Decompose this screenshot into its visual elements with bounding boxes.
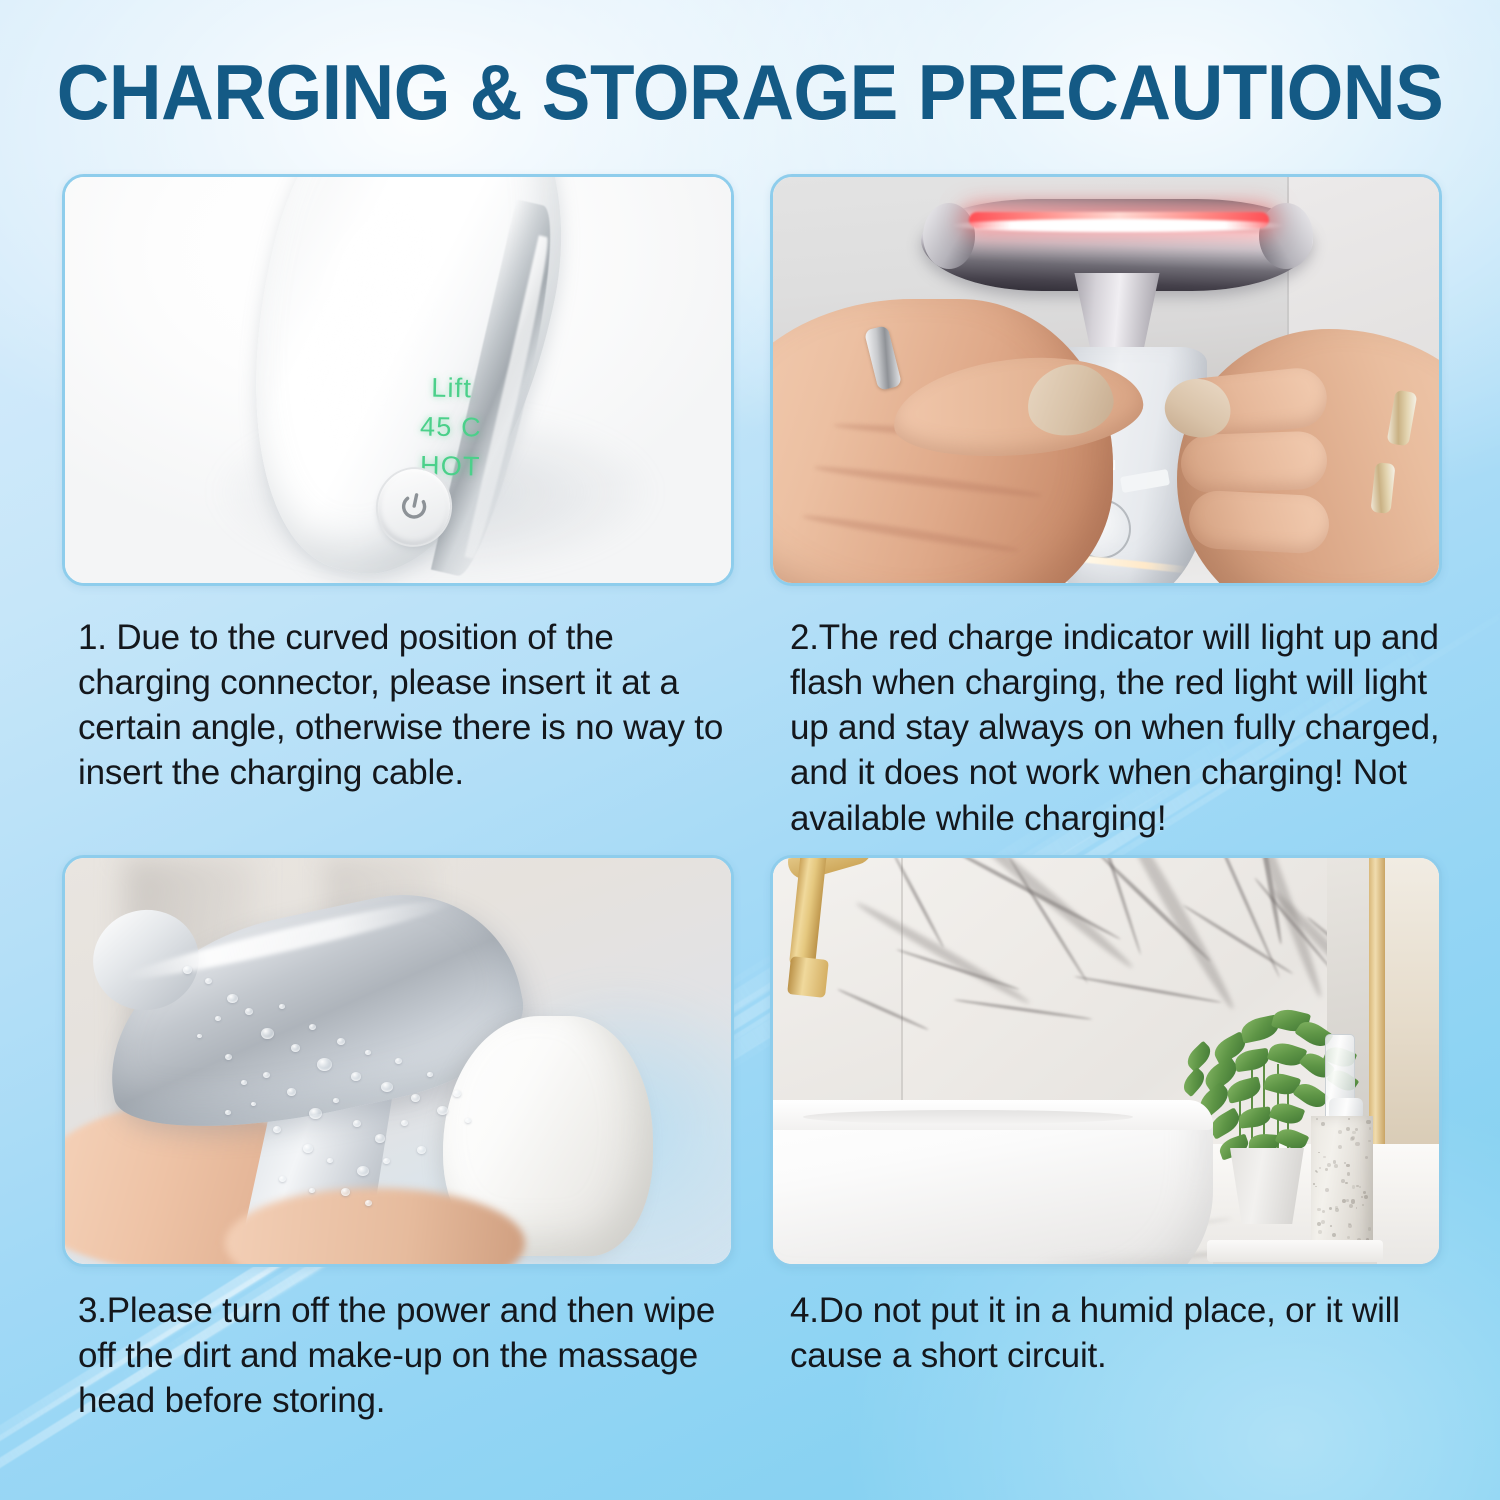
page-title: CHARGING & STORAGE PRECAUTIONS xyxy=(49,47,1452,138)
panel-2-photo-card: LEVLEDCLEAN xyxy=(770,174,1442,586)
terrazzo-speck xyxy=(1313,1183,1315,1185)
terrazzo-speck xyxy=(1325,1168,1328,1171)
water-droplet xyxy=(365,1200,372,1206)
terrazzo-speck xyxy=(1346,1164,1349,1167)
panel-4-caption: 4.Do not put it in a humid place, or it … xyxy=(790,1288,1450,1378)
water-droplet xyxy=(365,1050,371,1055)
water-droplet xyxy=(417,1146,426,1154)
water-droplet xyxy=(395,1058,402,1064)
terrazzo-speck xyxy=(1363,1191,1366,1194)
terrazzo-speck xyxy=(1342,1199,1346,1203)
water-droplet xyxy=(263,1072,270,1078)
water-droplet xyxy=(375,1134,385,1143)
terrazzo-speck xyxy=(1352,1185,1356,1189)
water-droplet xyxy=(333,1098,339,1103)
water-droplets xyxy=(65,858,731,1264)
terrazzo-speck xyxy=(1321,1220,1325,1224)
water-droplet xyxy=(383,1158,390,1164)
water-droplet xyxy=(453,1090,461,1097)
panel-1-photo-card: Lift45 CHOT xyxy=(62,174,734,586)
folded-towel xyxy=(1207,1240,1383,1262)
water-droplet xyxy=(291,1044,300,1052)
device-led-display: Lift45 CHOT xyxy=(360,367,542,487)
water-droplet xyxy=(279,1004,285,1009)
water-droplet xyxy=(353,1120,361,1127)
panel-3-caption: 3.Please turn off the power and then wip… xyxy=(78,1288,728,1423)
water-droplet xyxy=(309,1108,322,1119)
terrazzo-speck xyxy=(1332,1233,1336,1237)
terrazzo-speck xyxy=(1368,1140,1370,1142)
terrazzo-speck xyxy=(1366,1120,1370,1124)
terrazzo-speck xyxy=(1350,1137,1354,1141)
terrazzo-speck xyxy=(1318,1230,1322,1234)
right-finger xyxy=(1188,489,1331,554)
panel-4-photo xyxy=(773,858,1439,1264)
water-droplet xyxy=(437,1106,448,1115)
head-right-tip xyxy=(1259,203,1313,269)
terrazzo-speck xyxy=(1351,1199,1355,1203)
water-droplet xyxy=(241,1080,247,1085)
water-droplet xyxy=(351,1072,361,1081)
terrazzo-speck xyxy=(1352,1131,1355,1134)
terrazzo-speck xyxy=(1369,1127,1372,1130)
power-icon xyxy=(391,484,436,529)
terrazzo-speck xyxy=(1345,1182,1347,1184)
water-droplet xyxy=(303,1144,313,1153)
terrazzo-speck xyxy=(1349,1204,1353,1208)
terrazzo-speck xyxy=(1329,1207,1332,1210)
water-droplet xyxy=(327,1158,333,1163)
water-droplet xyxy=(309,1188,315,1193)
water-droplet xyxy=(183,966,192,974)
head-left-tip xyxy=(923,203,975,269)
water-droplet xyxy=(205,978,212,984)
water-droplet xyxy=(197,1034,202,1038)
water-droplet xyxy=(401,1120,408,1126)
panel-2-caption: 2.The red charge indicator will light up… xyxy=(790,615,1450,841)
panel-3-photo-card xyxy=(62,855,734,1267)
terrazzo-speck xyxy=(1346,1199,1349,1202)
panel-1-photo: Lift45 CHOT xyxy=(65,177,731,583)
water-droplet xyxy=(309,1024,316,1030)
water-droplet xyxy=(337,1038,345,1045)
water-droplet xyxy=(287,1088,296,1096)
water-droplet xyxy=(357,1166,369,1176)
water-droplet xyxy=(381,1082,393,1092)
right-finger xyxy=(1180,430,1328,493)
gold-mirror-frame xyxy=(1369,858,1385,1158)
water-droplet xyxy=(341,1188,350,1196)
water-droplet xyxy=(317,1058,332,1071)
led-line-temperature: 45 C xyxy=(420,411,482,442)
water-droplet xyxy=(427,1072,433,1077)
panel-2-photo: LEVLEDCLEAN xyxy=(773,177,1439,583)
water-droplet xyxy=(261,1028,274,1039)
water-droplet xyxy=(215,1016,221,1021)
gold-faucet-base xyxy=(787,956,829,998)
terrazzo-speck xyxy=(1355,1142,1359,1146)
water-droplet xyxy=(465,1118,471,1123)
terrazzo-speck xyxy=(1316,1171,1318,1173)
panel-4-photo-card xyxy=(770,855,1442,1267)
water-droplet xyxy=(251,1102,256,1106)
water-droplet xyxy=(411,1094,420,1102)
terrazzo-speck xyxy=(1338,1145,1342,1149)
led-line-lift: Lift xyxy=(431,373,472,404)
water-droplet xyxy=(227,994,238,1003)
terrazzo-speck xyxy=(1368,1227,1371,1230)
water-droplet xyxy=(273,1126,281,1133)
terrazzo-speck xyxy=(1333,1160,1336,1163)
terrazzo-speck xyxy=(1321,1122,1325,1126)
water-droplet xyxy=(225,1054,232,1060)
head-specular-highlight xyxy=(951,219,1285,232)
water-droplet xyxy=(225,1110,231,1115)
panel-1-caption: 1. Due to the curved position of the cha… xyxy=(78,615,728,796)
infographic-page: CHARGING & STORAGE PRECAUTIONS Lift45 CH… xyxy=(0,0,1500,1500)
bathtub-interior xyxy=(803,1110,1133,1124)
water-droplet xyxy=(279,1176,286,1182)
terrazzo-speck xyxy=(1344,1162,1346,1164)
water-droplet xyxy=(245,1008,253,1015)
terrazzo-speck xyxy=(1341,1179,1345,1183)
panel-3-photo xyxy=(65,858,731,1264)
